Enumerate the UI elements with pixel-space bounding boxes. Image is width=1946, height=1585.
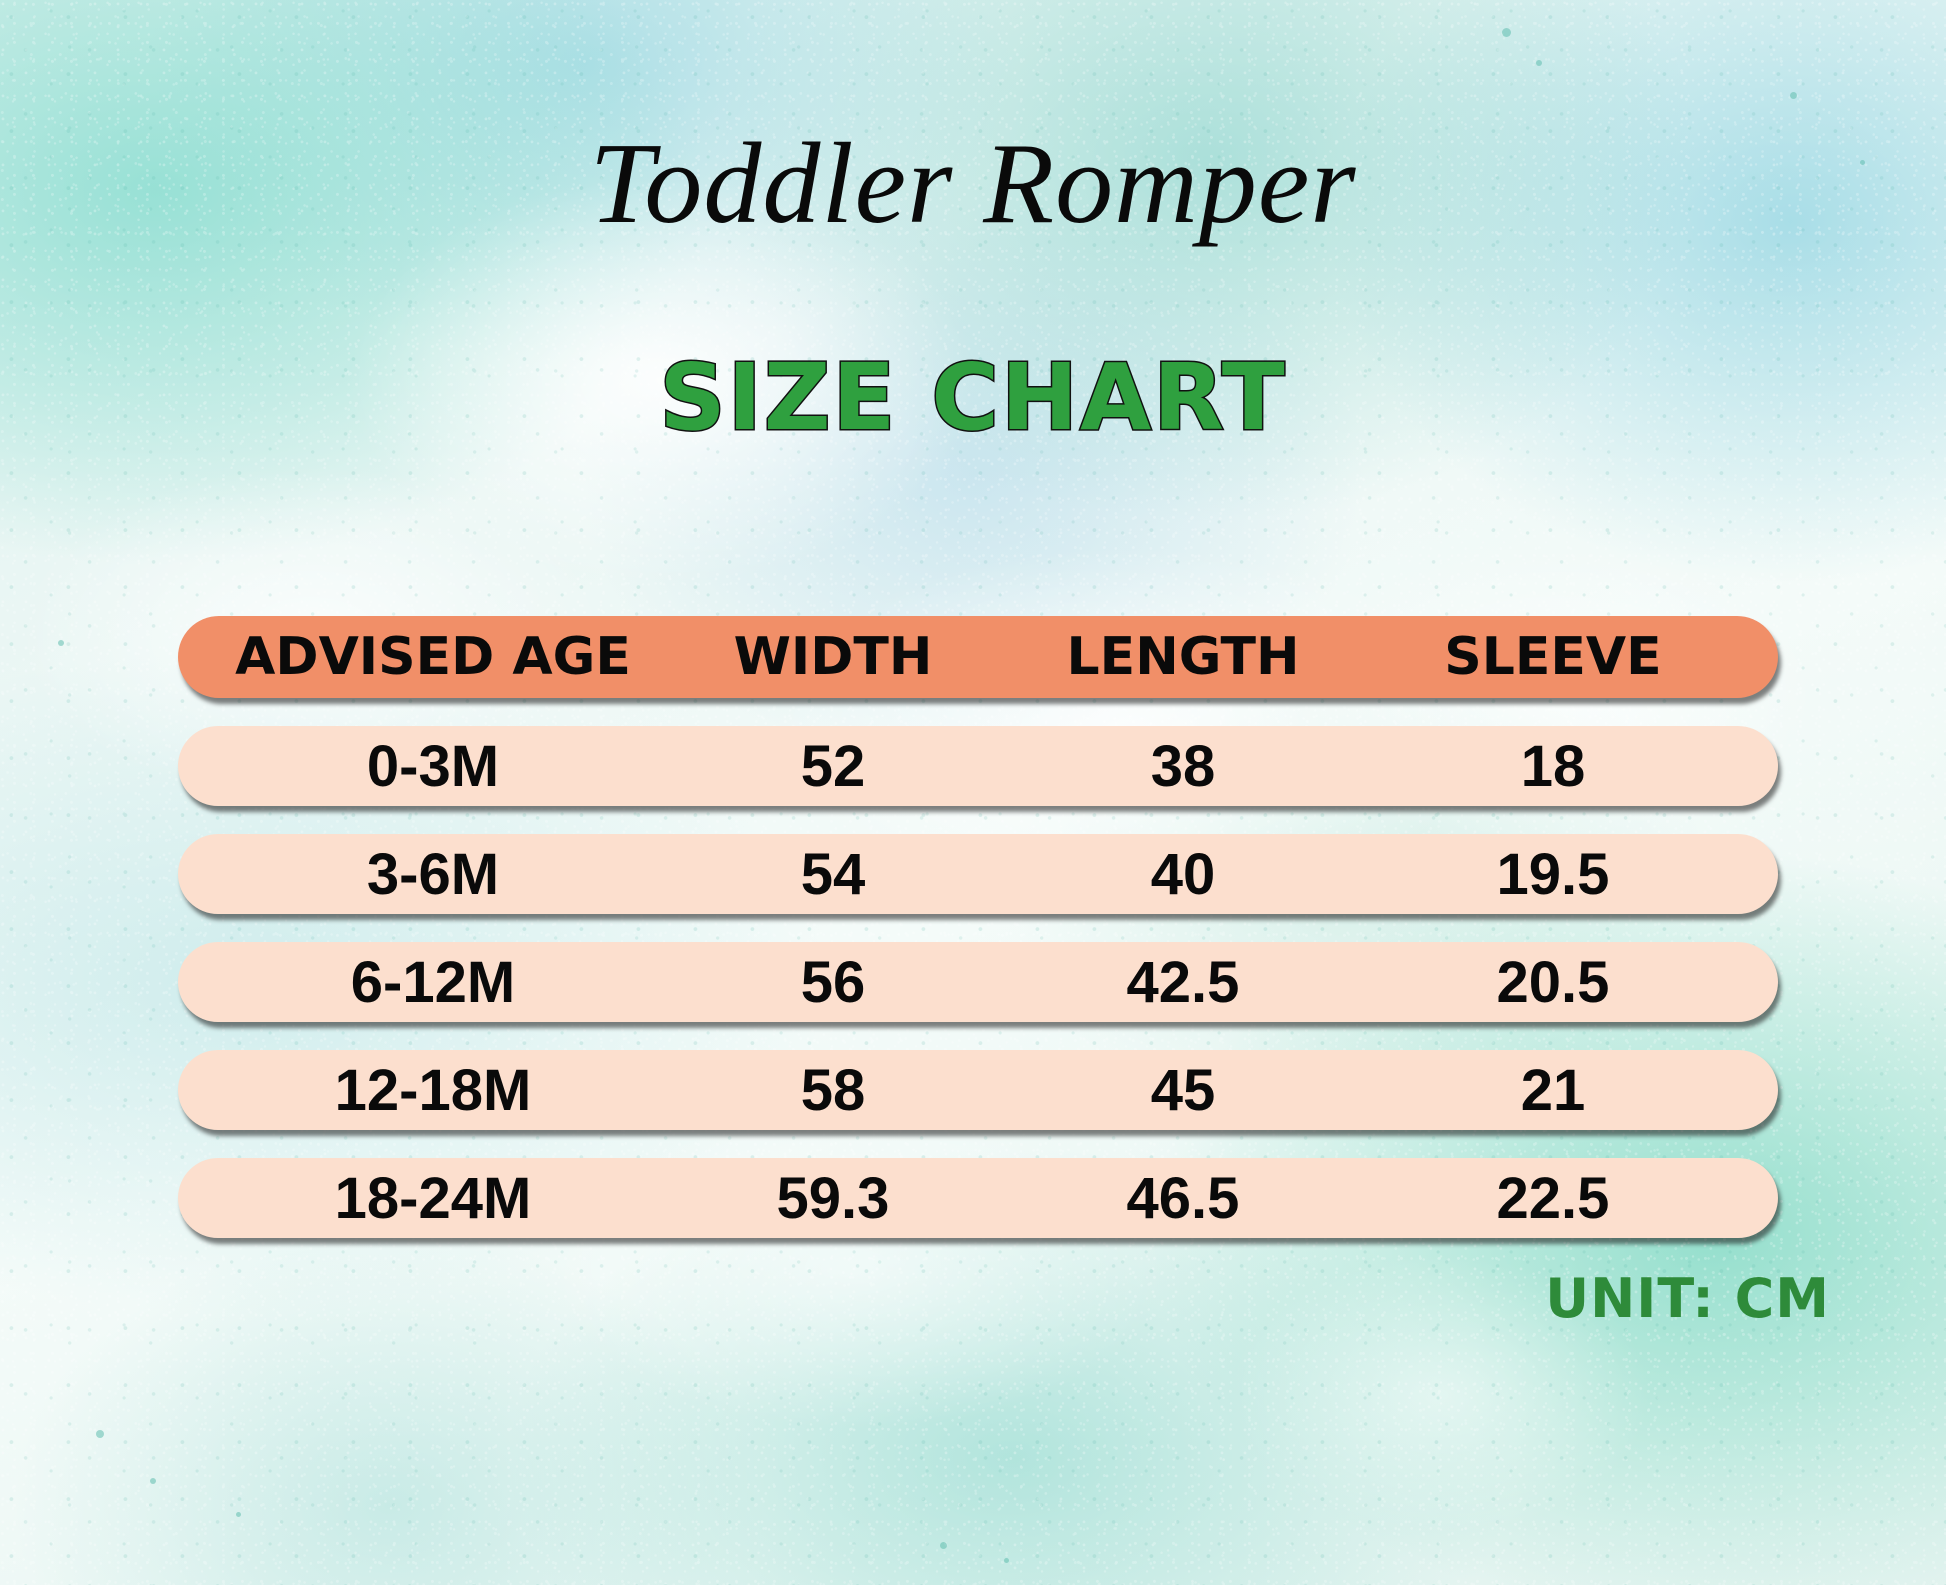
size-chart-heading: SIZE CHART: [0, 352, 1946, 444]
cell-width: 56: [668, 949, 998, 1016]
cell-length: 40: [998, 841, 1368, 908]
cell-advised-age: 3-6M: [198, 841, 668, 908]
column-header-sleeve: SLEEVE: [1368, 627, 1738, 687]
size-chart-canvas: Toddler Romper SIZE CHART ADVISED AGE WI…: [0, 0, 1946, 1585]
cell-advised-age: 12-18M: [198, 1057, 668, 1124]
page-title: Toddler Romper: [0, 126, 1946, 242]
cell-length: 38: [998, 733, 1368, 800]
size-chart-table: ADVISED AGE WIDTH LENGTH SLEEVE 0-3M 52 …: [178, 616, 1778, 1238]
cell-length: 46.5: [998, 1165, 1368, 1232]
column-header-width: WIDTH: [668, 627, 998, 687]
table-row: 0-3M 52 38 18: [178, 726, 1778, 806]
column-header-length: LENGTH: [998, 627, 1368, 687]
cell-width: 54: [668, 841, 998, 908]
cell-sleeve: 22.5: [1368, 1165, 1738, 1232]
cell-width: 52: [668, 733, 998, 800]
column-header-advised-age: ADVISED AGE: [198, 627, 668, 687]
cell-width: 59.3: [668, 1165, 998, 1232]
cell-length: 45: [998, 1057, 1368, 1124]
cell-sleeve: 19.5: [1368, 841, 1738, 908]
cell-advised-age: 0-3M: [198, 733, 668, 800]
table-header-row: ADVISED AGE WIDTH LENGTH SLEEVE: [178, 616, 1778, 698]
cell-sleeve: 20.5: [1368, 949, 1738, 1016]
unit-label: UNIT: CM: [1530, 1272, 1830, 1326]
table-row: 12-18M 58 45 21: [178, 1050, 1778, 1130]
cell-advised-age: 18-24M: [198, 1165, 668, 1232]
table-row: 3-6M 54 40 19.5: [178, 834, 1778, 914]
table-row: 18-24M 59.3 46.5 22.5: [178, 1158, 1778, 1238]
cell-advised-age: 6-12M: [198, 949, 668, 1016]
cell-length: 42.5: [998, 949, 1368, 1016]
cell-sleeve: 21: [1368, 1057, 1738, 1124]
cell-width: 58: [668, 1057, 998, 1124]
cell-sleeve: 18: [1368, 733, 1738, 800]
table-row: 6-12M 56 42.5 20.5: [178, 942, 1778, 1022]
size-chart-content: Toddler Romper SIZE CHART ADVISED AGE WI…: [0, 0, 1946, 1585]
